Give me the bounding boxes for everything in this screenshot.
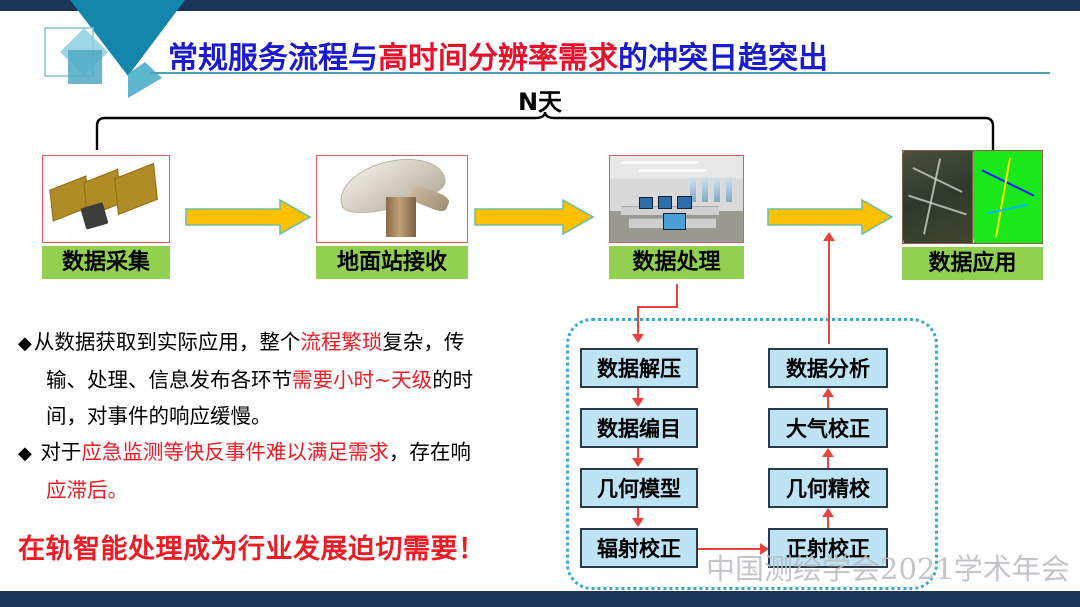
process-box-right-4[interactable]: 数据分析 bbox=[768, 348, 888, 388]
stage-caption: 数据应用 bbox=[902, 247, 1043, 280]
bullet-text-emphasis: 应滞后。 bbox=[46, 478, 128, 502]
arrowhead-down-icon bbox=[632, 518, 644, 527]
watermark: 中国测绘学会2021学术年会 bbox=[706, 546, 1070, 588]
timespan-bracket bbox=[95, 112, 995, 152]
pipeline-stage-ground-receive: 地面站接收 bbox=[316, 155, 468, 279]
ground-antenna-image bbox=[316, 155, 468, 243]
satellite-map-image bbox=[902, 150, 1043, 244]
bullet-text: 间，对事件的响应缓慢。 bbox=[46, 404, 272, 428]
conclusion-headline: 在轨智能处理成为行业发展迫切需要！ bbox=[18, 527, 486, 566]
bullet-text-emphasis: 流程繁琐 bbox=[300, 330, 382, 354]
bullet-text-emphasis: 应急监测等快反事件难以满足需求 bbox=[81, 440, 389, 464]
satellite-image bbox=[42, 155, 170, 243]
pipeline-stage-acquisition: 数据采集 bbox=[42, 155, 170, 279]
title-underline bbox=[150, 72, 1050, 74]
arrowhead-up-icon bbox=[823, 232, 835, 241]
arrowhead-down-icon bbox=[632, 458, 644, 467]
pipeline-arrow-2 bbox=[473, 198, 595, 241]
arrowhead-up-icon bbox=[822, 388, 834, 397]
control-room-image bbox=[609, 155, 744, 243]
slide-canvas: 常规服务流程与高时间分辨率需求的冲突日趋突出 N天 数据采集 bbox=[0, 0, 1080, 607]
bullet-text: ，存在响 bbox=[389, 440, 471, 464]
bullet-item-cont: 输、处理、信息发布各环节需要小时~天级的时 bbox=[18, 362, 566, 398]
bullet-text: 输、处理、信息发布各环节 bbox=[46, 368, 292, 392]
arrowhead-down-icon bbox=[632, 334, 644, 343]
bullet-item-cont: 间，对事件的响应缓慢。 bbox=[18, 398, 566, 434]
connector-processing-to-flow-vertical bbox=[676, 284, 678, 308]
pipeline-stage-application: 数据应用 bbox=[902, 150, 1043, 280]
bullet-text: 复杂，传 bbox=[382, 330, 464, 354]
bullet-item: ◆从数据获取到实际应用，整个流程繁琐复杂，传 bbox=[18, 324, 566, 362]
pipeline-arrow-1 bbox=[184, 198, 312, 241]
arrowhead-up-icon bbox=[822, 448, 834, 457]
connector-processing-to-flow-down bbox=[637, 306, 639, 336]
page-title: 常规服务流程与高时间分辨率需求的冲突日趋突出 bbox=[168, 33, 828, 77]
bullet-marker: ◆ bbox=[18, 333, 32, 354]
process-box-left-3[interactable]: 几何模型 bbox=[580, 468, 698, 508]
stage-caption: 地面站接收 bbox=[316, 246, 468, 279]
bullet-text: 从数据获取到实际应用，整个 bbox=[34, 330, 301, 354]
process-box-right-3[interactable]: 大气校正 bbox=[768, 408, 888, 448]
process-box-right-2[interactable]: 几何精校 bbox=[768, 468, 888, 508]
connector-analysis-to-application bbox=[828, 240, 830, 344]
arrowhead-up-icon bbox=[822, 508, 834, 517]
pipeline-stage-processing: 数据处理 bbox=[609, 155, 744, 279]
bullet-text: 的时 bbox=[432, 368, 473, 392]
bullet-text: 对于 bbox=[40, 440, 81, 464]
stage-caption: 数据采集 bbox=[42, 246, 170, 279]
title-part-2: 的冲突日趋突出 bbox=[618, 41, 828, 76]
connector-processing-to-flow-horizontal bbox=[637, 306, 678, 308]
stage-caption: 数据处理 bbox=[609, 246, 744, 279]
title-highlight: 高时间分辨率需求 bbox=[378, 41, 618, 76]
process-box-left-1[interactable]: 数据解压 bbox=[580, 348, 698, 388]
bullet-item: ◆ 对于应急监测等快反事件难以满足需求，存在响 bbox=[18, 434, 566, 472]
bullet-list: ◆从数据获取到实际应用，整个流程繁琐复杂，传 输、处理、信息发布各环节需要小时~… bbox=[18, 324, 566, 508]
bullet-text-emphasis: 需要小时~天级 bbox=[292, 368, 432, 392]
bullet-marker: ◆ bbox=[18, 443, 32, 464]
process-box-left-2[interactable]: 数据编目 bbox=[580, 408, 698, 448]
process-box-left-4[interactable]: 辐射校正 bbox=[580, 528, 698, 568]
bullet-item-cont: 应滞后。 bbox=[18, 472, 566, 508]
title-part-1: 常规服务流程与 bbox=[168, 41, 378, 76]
bottom-accent-bar bbox=[0, 591, 1080, 607]
arrowhead-down-icon bbox=[632, 398, 644, 407]
